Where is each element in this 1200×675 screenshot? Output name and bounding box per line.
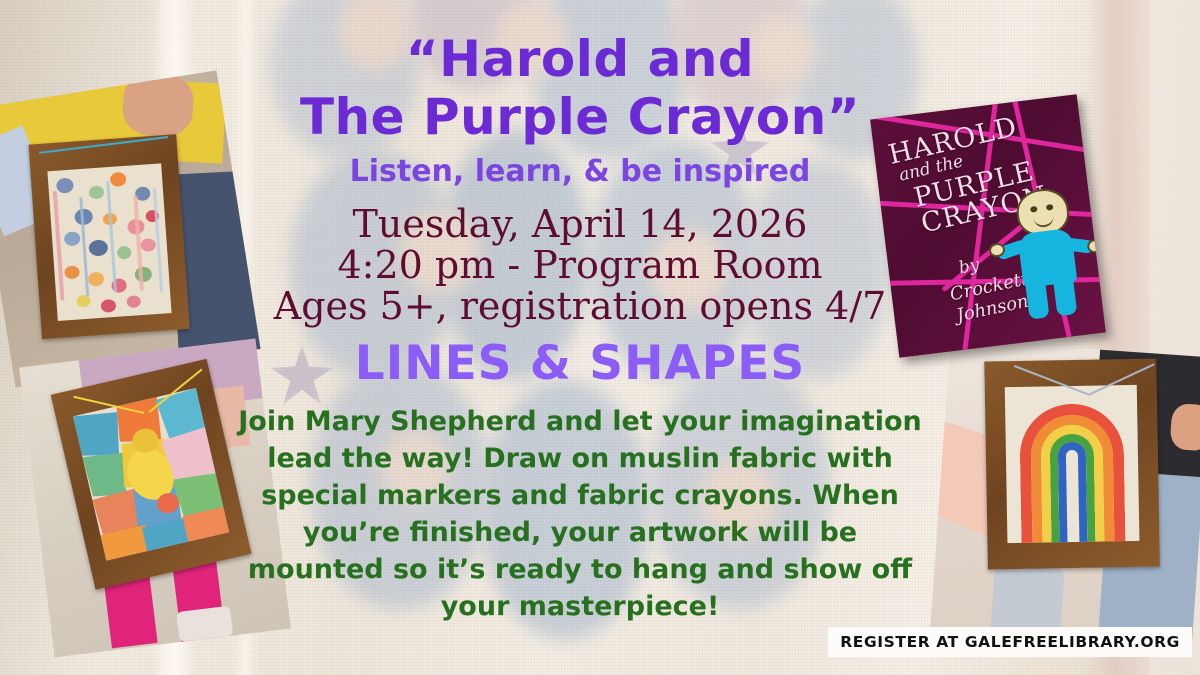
program-headline: LINES & SHAPES: [200, 337, 960, 391]
event-time-location: 4:20 pm - Program Room: [200, 245, 960, 286]
artwork-frame: [28, 134, 189, 339]
artwork-frame: [984, 359, 1160, 570]
poster-text-column: “Harold and The Purple Crayon” Listen, l…: [200, 0, 960, 625]
register-footer-banner[interactable]: REGISTER AT GALEFREELIBRARY.ORG: [828, 627, 1192, 657]
artwork-canvas: [1005, 385, 1140, 543]
harold-leg-right: [1053, 278, 1077, 316]
register-footer-text: REGISTER AT GALEFREELIBRARY.ORG: [840, 633, 1180, 651]
child-holding-rainbow-artwork: [930, 339, 1200, 649]
poster-title-line-1: “Harold and: [200, 30, 960, 88]
harold-leg-left: [1025, 281, 1049, 319]
program-description: Join Mary Shepherd and let your imaginat…: [200, 403, 960, 625]
event-ages-registration: Ages 5+, registration opens 4/7: [200, 286, 960, 327]
child-hand: [1169, 403, 1200, 452]
poster-tagline: Listen, learn, & be inspired: [200, 154, 960, 190]
harold-character: [998, 184, 1101, 324]
artwork-canvas: [47, 163, 171, 321]
book-byline: by: [957, 255, 981, 279]
poster-title-line-2: The Purple Crayon”: [200, 88, 960, 146]
poster-canvas: HAROLD and the PURPLE CRAYON by Crockett…: [0, 0, 1200, 675]
event-date: Tuesday, April 14, 2026: [200, 204, 960, 245]
